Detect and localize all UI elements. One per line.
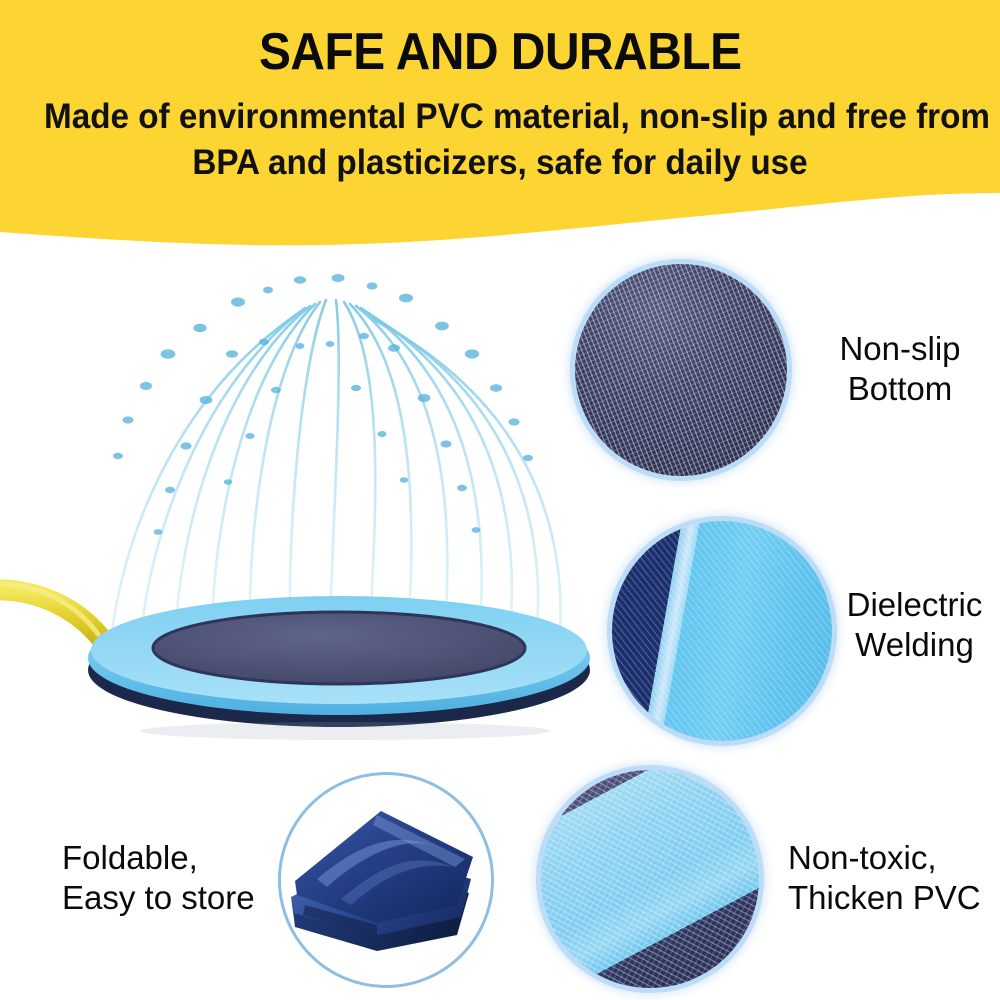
feature-label-nontoxic-line-2: Thicken PVC <box>788 878 1000 918</box>
feature-label-welding-line-1: Dielectric <box>832 585 997 625</box>
banner-subtitle-line-1: Made of environmental PVC material, non-… <box>44 94 956 140</box>
pad-ground-shadow <box>140 722 550 740</box>
feature-label-welding-line-2: Welding <box>832 625 997 665</box>
banner-subtitle-line-2: BPA and plasticizers, safe for daily use <box>44 140 956 186</box>
feature-label-nontoxic-line-1: Non-toxic, <box>788 838 1000 878</box>
feature-label-non-slip-line-2: Bottom <box>820 369 980 409</box>
page-title: SAFE AND DURABLE <box>259 26 742 78</box>
feature-label-foldable-line-1: Foldable, <box>62 838 292 878</box>
feature-label-foldable-line-2: Easy to store <box>62 878 292 918</box>
feature-label-foldable: Foldable, Easy to store <box>62 838 292 919</box>
feature-label-non-slip-line-1: Non-slip <box>820 329 980 369</box>
feature-label-non-toxic: Non-toxic, Thicken PVC <box>788 838 1000 919</box>
feature-label-dielectric-welding: Dielectric Welding <box>832 585 997 666</box>
feature-label-non-slip: Non-slip Bottom <box>820 329 980 410</box>
feature-swatch-dielectric-welding <box>612 521 832 741</box>
water-droplets <box>113 274 533 535</box>
header-banner: SAFE AND DURABLE Made of environmental P… <box>0 0 1000 260</box>
feature-swatch-foldable <box>278 772 494 988</box>
banner-subtitle: Made of environmental PVC material, non-… <box>44 94 956 186</box>
feature-swatch-non-toxic <box>541 770 759 988</box>
feature-swatch-non-slip <box>575 264 787 476</box>
folded-mat-image <box>281 775 491 985</box>
product-illustration-sprinkler-pad <box>0 250 620 740</box>
infographic-page: SAFE AND DURABLE Made of environmental P… <box>0 0 1000 1000</box>
